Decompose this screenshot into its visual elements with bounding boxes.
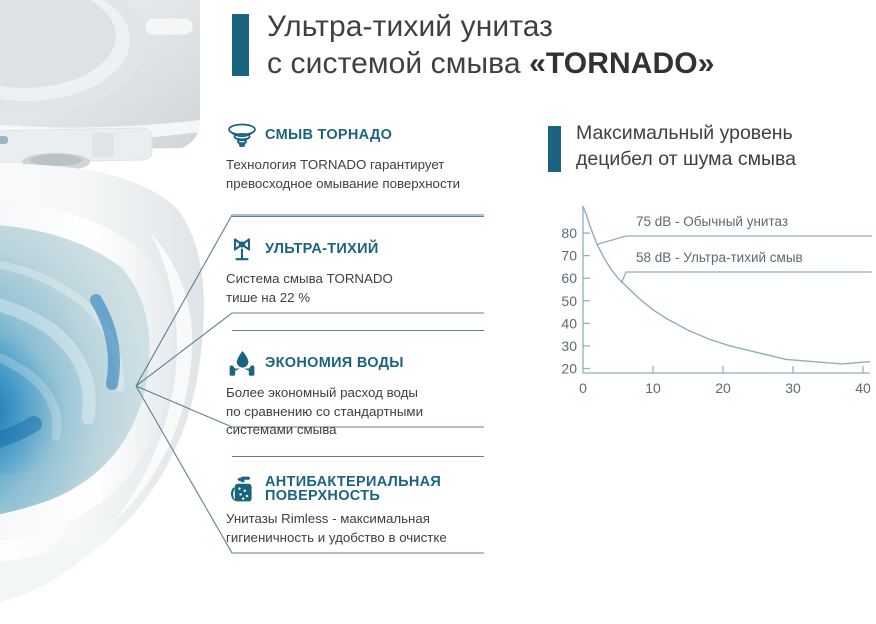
y-tick-label: 80 (561, 225, 577, 241)
y-tick-label: 40 (561, 315, 577, 331)
annotation-label: 58 dB - Ультра-тихий смыв (636, 250, 803, 265)
feature-separator (232, 456, 484, 457)
y-tick-label: 20 (561, 360, 577, 376)
feature-title: АНТИБАКТЕРИАЛЬНАЯ ПОВЕРХНОСТЬ (265, 475, 441, 503)
y-tick-label: 30 (561, 338, 577, 354)
antibacterial-spray-icon (226, 473, 258, 505)
feature-header: УЛЬТРА-ТИХИЙ (226, 232, 526, 266)
feature-title: УЛЬТРА-ТИХИЙ (265, 242, 379, 257)
chart-heading: Максимальный уровень децибел от шума смы… (548, 124, 876, 184)
feature-separator (232, 216, 484, 217)
feature-title: ЭКОНОМИЯ ВОДЫ (265, 356, 404, 371)
water-drop-hands-icon (226, 347, 258, 379)
title-accent-bar (232, 14, 249, 76)
feature-block-water-saving: ЭКОНОМИЯ ВОДЫ Более экономный расход вод… (226, 330, 526, 440)
feature-block-ultra-quiet: УЛЬТРА-ТИХИЙ Система смыва TORNADO тише … (226, 216, 526, 307)
y-tick-label: 70 (561, 248, 577, 264)
feature-header: СМЫВ ТОРНАДО (226, 118, 526, 152)
feature-separator (232, 330, 484, 331)
y-tick-label: 50 (561, 293, 577, 309)
annotation-label: 75 dB - Обычный унитаз (636, 214, 788, 229)
feature-body: Более экономный расход воды по сравнению… (226, 384, 526, 440)
toilet-product-photo (0, 0, 232, 624)
x-tick-label: 40 (855, 380, 871, 396)
brand-name: «TORNADO» (529, 47, 714, 80)
chart-heading-accent-bar (548, 126, 561, 172)
feature-body: Технология TORNADO гарантирует превосход… (226, 156, 526, 193)
chart-heading-text: Максимальный уровень децибел от шума смы… (576, 120, 876, 172)
annotation-leader-line (597, 236, 872, 244)
x-tick-label: 20 (715, 380, 731, 396)
feature-header: АНТИБАКТЕРИАЛЬНАЯ ПОВЕРХНОСТЬ (226, 472, 526, 506)
y-tick-label: 60 (561, 270, 577, 286)
noise-decibel-chart: 20304050607080 010203040 75 dB - Обычный… (540, 200, 876, 400)
annotation-leader-line (622, 272, 873, 283)
page-title: Ультра-тихий унитаз с системой смыва «TO… (232, 12, 872, 92)
feature-block-antibacterial: АНТИБАКТЕРИАЛЬНАЯ ПОВЕРХНОСТЬ Унитазы Ri… (226, 456, 526, 547)
tornado-funnel-icon (226, 119, 258, 151)
title-text: Ультра-тихий унитаз с системой смыва «TO… (267, 8, 867, 82)
feature-body: Система смыва TORNADO тише на 22 % (226, 270, 526, 307)
x-tick-label: 10 (645, 380, 661, 396)
feature-header: ЭКОНОМИЯ ВОДЫ (226, 346, 526, 380)
x-tick-label: 30 (785, 380, 801, 396)
feature-title: СМЫВ ТОРНАДО (265, 128, 392, 143)
x-tick-label: 0 (579, 380, 587, 396)
mute-horn-icon (226, 233, 258, 265)
title-line-2: с системой смыва «TORNADO» (267, 45, 867, 82)
feature-block-tornado-flush: СМЫВ ТОРНАДО Технология TORNADO гарантир… (226, 118, 526, 193)
title-line-2-prefix: с системой смыва (267, 47, 529, 80)
infographic-root: Ультра-тихий унитаз с системой смыва «TO… (0, 0, 876, 624)
noise-curve (583, 206, 870, 364)
feature-body: Унитазы Rimless - максимальная гигиеничн… (226, 510, 526, 547)
title-line-1: Ультра-тихий унитаз (267, 8, 867, 45)
